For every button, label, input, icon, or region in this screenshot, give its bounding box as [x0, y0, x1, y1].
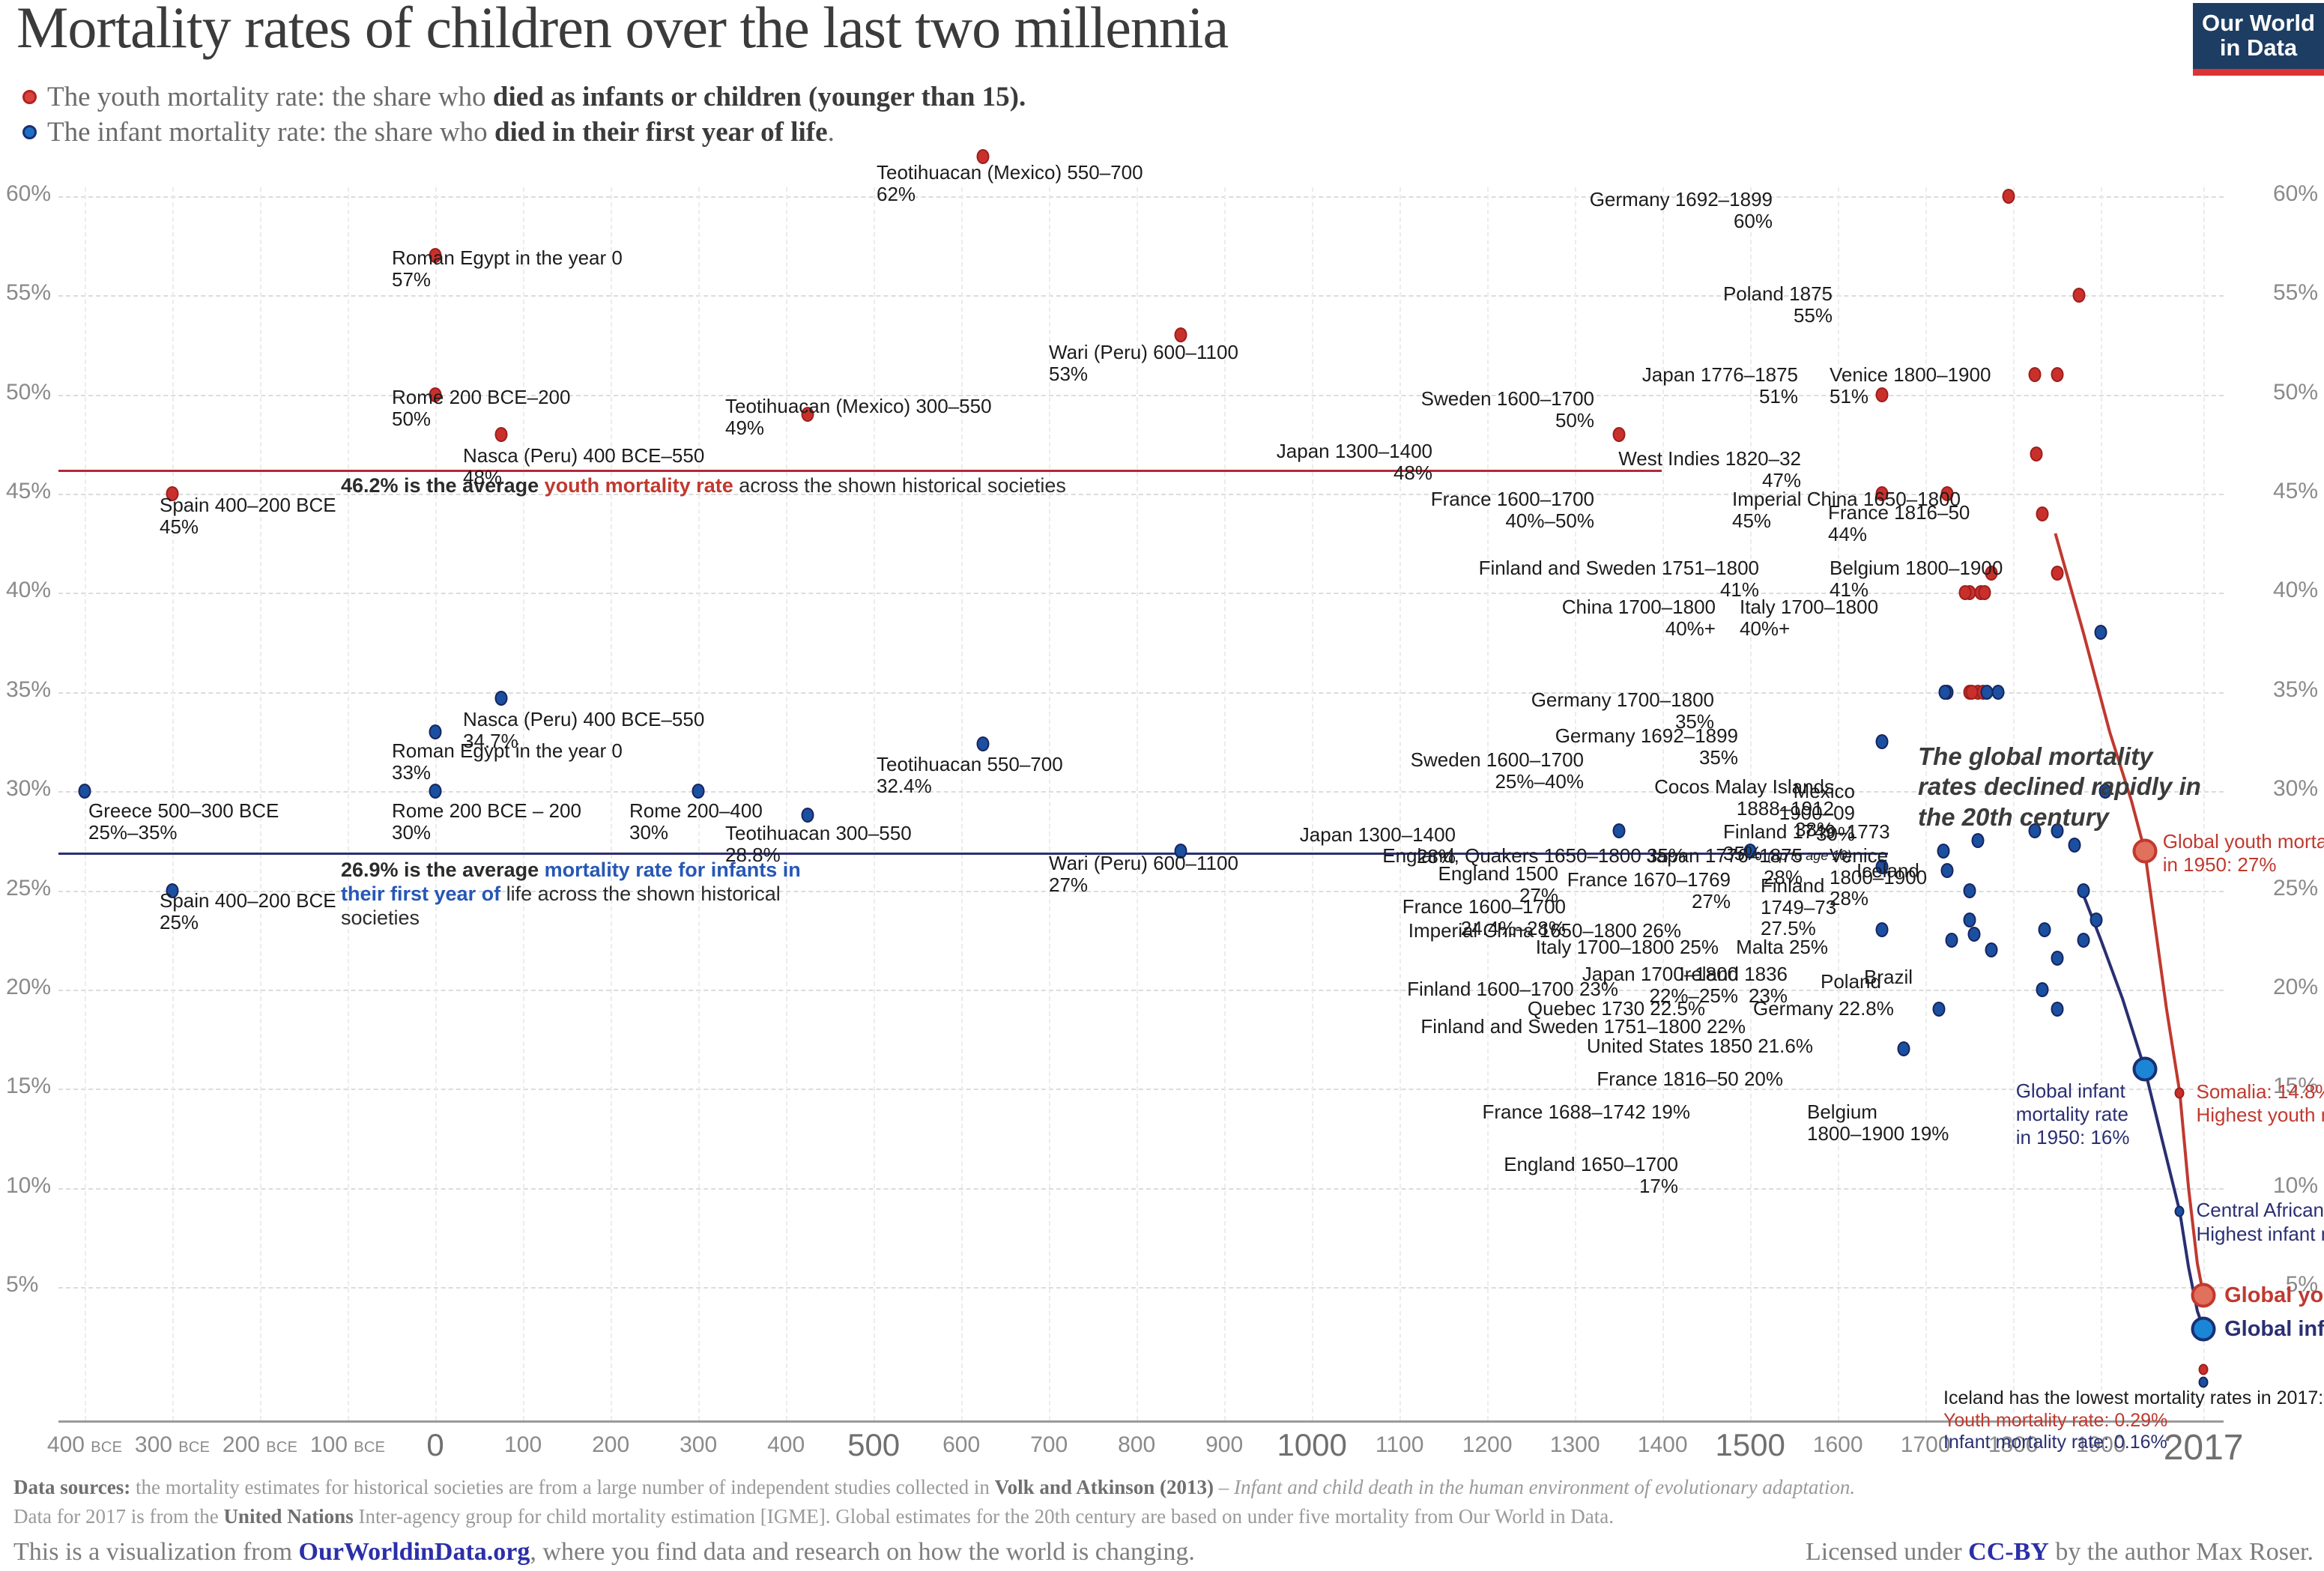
point-label: Japan 1776–187551% [1642, 364, 1798, 407]
gridline-v-1200 [1487, 187, 1489, 1420]
callout-global-youth-2017: Global youth mortality rate in 2017: 4.6… [2224, 1283, 2324, 1309]
callout-gi1950-line1: Global infant [2016, 1080, 2130, 1103]
point-label: Sweden 1600–170050% [1421, 388, 1594, 431]
data-point[interactable] [2051, 1002, 2063, 1017]
data-point[interactable] [692, 784, 705, 799]
iceland-youth-rate: Youth mortality rate: 0.29% [1943, 1410, 2323, 1432]
x-tick--300: 300 BCE [135, 1432, 210, 1458]
data-point[interactable] [1972, 833, 1985, 848]
footer-volk-atkinson: Volk and Atkinson (2013) [995, 1476, 1214, 1498]
point-label: Greece 500–300 BCE25%–35% [88, 800, 279, 843]
callout-global-infant-1950: Global infant mortality rate in 1950: 16… [2016, 1080, 2130, 1150]
data-point[interactable] [2030, 447, 2042, 461]
data-point[interactable] [79, 784, 91, 799]
footer-united-nations: United Nations [223, 1505, 353, 1528]
point-label: Teotihuacan (Mexico) 550–70062% [877, 162, 1143, 205]
callout-gy1950-line1: Global youth mortality rate [2163, 830, 2324, 853]
data-point[interactable] [2191, 1316, 2216, 1341]
gridline-h-30 [58, 791, 2224, 793]
point-label: Teotihuacan (Mexico) 300–55049% [725, 396, 992, 438]
point-label: Japan 1300–140048% [1277, 441, 1432, 483]
callout-global-youth-1950: Global youth mortality rate in 1950: 27% [2163, 830, 2324, 877]
y-tick-right-60: 60% [2273, 181, 2318, 207]
callout-car-line2: Highest infant mortality rate in 2017 [2196, 1223, 2324, 1246]
data-point[interactable] [1946, 933, 1958, 948]
point-label: Nasca (Peru) 400 BCE–55048% [463, 445, 704, 488]
x-tick-100: 100 [504, 1432, 542, 1458]
point-label: Belgium1800–1900 19% [1807, 1101, 1949, 1144]
point-label: Spain 400–200 BCE45% [160, 494, 336, 537]
point-label: Germany 1692–189960% [1590, 189, 1773, 231]
gridline-h-15 [58, 1089, 2224, 1090]
point-label: Nasca (Peru) 400 BCE–55034.7% [463, 709, 704, 751]
point-label: France 1816–5044% [1828, 502, 1970, 545]
gridline-h-35 [58, 692, 2224, 694]
x-tick-1000: 1000 [1277, 1427, 1346, 1463]
x-axis-line [58, 1420, 2224, 1423]
y-tick-right-30: 30% [2273, 776, 2318, 802]
x-tick-1300: 1300 [1550, 1432, 1600, 1458]
callout-global-infant-2017: Global infant mortality rate in 2017: 2.… [2224, 1316, 2324, 1343]
point-label: Wari (Peru) 600–110053% [1049, 342, 1238, 384]
x-tick-1500: 1500 [1715, 1427, 1785, 1463]
point-label: Spain 400–200 BCE25% [160, 890, 336, 933]
point-label: Poland [1821, 971, 1881, 993]
data-point[interactable] [2090, 912, 2103, 927]
average-infant-note: 26.9% is the average mortality rate for … [341, 859, 835, 930]
y-tick-left-45: 45% [6, 479, 51, 504]
point-label: Wari (Peru) 600–110027% [1049, 853, 1238, 895]
x-tick-300: 300 [680, 1432, 717, 1458]
x-tick-800: 800 [1118, 1432, 1155, 1458]
data-point[interactable] [2072, 288, 2085, 303]
iceland-annotation: Iceland has the lowest mortality rates i… [1943, 1387, 2323, 1454]
y-tick-left-40: 40% [6, 578, 51, 603]
x-tick-1200: 1200 [1462, 1432, 1513, 1458]
data-point[interactable] [2199, 1377, 2209, 1388]
point-label: Roman Egypt in the year 057% [392, 247, 623, 290]
x-tick-400: 400 [767, 1432, 805, 1458]
data-point[interactable] [1958, 585, 1971, 600]
footer-line3-a: This is a visualization from [13, 1538, 299, 1566]
data-point[interactable] [2077, 883, 2090, 898]
footer-sources-label: Data sources: [13, 1476, 130, 1498]
y-tick-right-35: 35% [2273, 677, 2318, 703]
iceland-infant-rate: Infant mortality rate: 0.16% [1943, 1432, 2323, 1454]
footer-line1-a: the mortality estimates for historical s… [130, 1476, 994, 1498]
data-point[interactable] [2199, 1363, 2209, 1375]
y-tick-right-55: 55% [2273, 280, 2318, 306]
point-label: France 1688–1742 19% [1482, 1101, 1690, 1123]
y-tick-right-20: 20% [2273, 975, 2318, 1000]
x-tick-900: 900 [1205, 1432, 1243, 1458]
gridline-v-1300 [1575, 187, 1576, 1420]
gridline-h-5 [58, 1287, 2224, 1289]
gridline-h-20 [58, 990, 2224, 991]
y-tick-right-40: 40% [2273, 578, 2318, 603]
data-point[interactable] [2036, 506, 2048, 521]
data-point[interactable] [2191, 1283, 2216, 1307]
data-point[interactable] [1875, 922, 1888, 937]
data-point[interactable] [1938, 685, 1951, 700]
gridline-v-600 [961, 187, 963, 1420]
data-point[interactable] [2036, 982, 2048, 997]
data-point[interactable] [429, 724, 442, 739]
point-label: Poland 187555% [1723, 283, 1833, 326]
callout-somalia-line1: Somalia: 14.8% [2196, 1080, 2324, 1104]
point-label: Germany 22.8% [1753, 998, 1894, 1020]
y-tick-right-50: 50% [2273, 380, 2318, 405]
footer-line-1: Data sources: the mortality estimates fo… [13, 1473, 2314, 1502]
point-label: Italy 1700–180040%+ [1740, 596, 1878, 639]
data-point[interactable] [1985, 942, 1997, 957]
data-point[interactable] [1875, 734, 1888, 749]
point-label: Teotihuacan 300–55028.8% [725, 823, 912, 865]
x-tick-1600: 1600 [1813, 1432, 1863, 1458]
point-label: China 1700–180040%+ [1562, 596, 1716, 639]
data-point[interactable] [1941, 863, 1954, 878]
gridline-v-1100 [1399, 187, 1401, 1420]
footer-line2-c: Inter-agency group for child mortality e… [354, 1505, 1614, 1528]
gridline-v-200 [611, 187, 612, 1420]
x-tick-600: 600 [942, 1432, 980, 1458]
avg-infant-lead: 26.9% is the average [341, 859, 545, 881]
point-label: England, Quakers 1650–1800 35% [1382, 845, 1686, 867]
footer-viz-credit: This is a visualization from OurWorldinD… [13, 1533, 1195, 1571]
data-point[interactable] [1978, 585, 1991, 600]
point-label: Italy 1700–1800 25% [1536, 936, 1719, 958]
iceland-line-1: Iceland has the lowest mortality rates i… [1943, 1387, 2323, 1410]
point-label: United States 1850 21.6% [1587, 1035, 1813, 1057]
point-label: Rome 200 BCE–20050% [392, 387, 570, 429]
footer-license-a: Licensed under [1806, 1538, 1968, 1566]
point-label: England 1650–170017% [1504, 1154, 1678, 1196]
data-point[interactable] [2051, 367, 2063, 382]
callout-central-african-republic: Central African Republic: 8.8% Highest i… [2196, 1199, 2324, 1245]
trend-line [2055, 533, 2203, 1295]
decline-annotation: The global mortality rates declined rapi… [1918, 742, 2218, 832]
y-tick-left-25: 25% [6, 876, 51, 901]
gridline-h-55 [58, 295, 2224, 297]
callout-car-line1: Central African Republic: 8.8% [2196, 1199, 2324, 1222]
point-label: Iceland [1857, 860, 1919, 882]
cc-by-link[interactable]: CC-BY [1968, 1538, 2049, 1566]
point-label: Venice 1800–190051% [1830, 364, 1991, 407]
y-tick-left-10: 10% [6, 1173, 51, 1199]
point-label: France 1816–50 20% [1597, 1068, 1783, 1090]
data-point[interactable] [2132, 838, 2157, 863]
footer-line1-italic: Infant and child death in the human envi… [1234, 1476, 1855, 1498]
footer-line1-c: – [1214, 1476, 1234, 1498]
avg-youth-rest: across the shown historical societies [733, 474, 1066, 497]
gridline-h-10 [58, 1188, 2224, 1190]
data-point[interactable] [802, 808, 814, 823]
point-label: Rome 200 BCE – 20030% [392, 800, 581, 843]
y-tick-left-15: 15% [6, 1074, 51, 1099]
data-point[interactable] [1963, 883, 1976, 898]
x-tick-700: 700 [1030, 1432, 1068, 1458]
data-point[interactable] [1932, 1002, 1945, 1017]
callout-gi1950-line3: in 1950: 16% [2016, 1126, 2130, 1149]
x-tick-1100: 1100 [1376, 1432, 1424, 1458]
footer-license-b: by the author Max Roser. [2049, 1538, 2314, 1566]
owid-link[interactable]: OurWorldinData.org [299, 1538, 530, 1566]
callout-somalia-line2: Highest youth mortality rate in 2017 [2196, 1104, 2324, 1127]
data-point[interactable] [2029, 367, 2042, 382]
chart-plot-area: 5%5%10%10%15%15%20%20%25%25%30%30%35%35%… [0, 0, 2324, 1549]
footer-line-3: This is a visualization from OurWorldinD… [13, 1533, 2314, 1571]
x-tick-500: 500 [847, 1427, 900, 1463]
footer: Data sources: the mortality estimates fo… [13, 1473, 2314, 1571]
data-point[interactable] [429, 784, 442, 799]
data-point[interactable] [2003, 189, 2015, 204]
data-point[interactable] [1992, 685, 2005, 700]
point-label: Finland1749–7327.5% [1761, 875, 1836, 939]
x-tick--100: 100 BCE [310, 1432, 385, 1458]
data-point[interactable] [2069, 838, 2081, 853]
gridline-v-1000 [1312, 187, 1313, 1420]
x-tick-0: 0 [426, 1427, 444, 1463]
gridline-v--100 [348, 187, 349, 1420]
y-tick-left-60: 60% [6, 181, 51, 207]
data-point[interactable] [2095, 625, 2107, 640]
y-tick-left-50: 50% [6, 380, 51, 405]
data-point[interactable] [1967, 927, 1980, 942]
data-point[interactable] [2175, 1087, 2185, 1098]
x-tick-200: 200 [592, 1432, 629, 1458]
y-tick-left-5: 5% [6, 1272, 38, 1298]
y-tick-right-45: 45% [2273, 479, 2318, 504]
y-tick-left-55: 55% [6, 280, 51, 306]
data-point[interactable] [2051, 566, 2063, 581]
callout-gy1950-line2: in 1950: 27% [2163, 853, 2324, 877]
callout-gi1950-line2: mortality rate [2016, 1103, 2130, 1126]
y-tick-left-20: 20% [6, 975, 51, 1000]
point-label: France 1600–170040%–50% [1431, 488, 1594, 531]
data-point[interactable] [2132, 1056, 2157, 1081]
gridline-v-500 [874, 187, 875, 1420]
y-tick-left-30: 30% [6, 776, 51, 802]
data-point[interactable] [1963, 912, 1976, 927]
data-point[interactable] [494, 427, 507, 442]
data-point[interactable] [1897, 1041, 1910, 1056]
y-tick-right-25: 25% [2273, 876, 2318, 901]
x-tick-1400: 1400 [1638, 1432, 1688, 1458]
y-tick-left-35: 35% [6, 677, 51, 703]
data-point[interactable] [494, 691, 507, 706]
x-tick--200: 200 BCE [223, 1432, 297, 1458]
gridline-v--400 [85, 187, 86, 1420]
data-point[interactable] [1937, 844, 1949, 859]
point-label: West Indies 1820–3247% [1618, 448, 1801, 491]
point-label: Mexico1900–0930% [1779, 781, 1855, 845]
footer-license: Licensed under CC-BY by the author Max R… [1806, 1533, 2314, 1571]
point-label: Malta 25% [1736, 936, 1828, 958]
data-point[interactable] [2051, 951, 2063, 966]
point-label: Finland and Sweden 1751–180041% [1479, 557, 1759, 600]
footer-line2-a: Data for 2017 is from the [13, 1505, 223, 1528]
x-tick--400: 400 BCE [47, 1432, 122, 1458]
data-point[interactable] [1612, 823, 1625, 838]
y-tick-right-10: 10% [2273, 1173, 2318, 1199]
data-point[interactable] [2077, 933, 2090, 948]
footer-line3-b: , where you find data and research on ho… [530, 1538, 1195, 1566]
footer-line-2: Data for 2017 is from the United Nations… [13, 1502, 2314, 1531]
data-point[interactable] [2039, 922, 2051, 937]
point-label: Sweden 1600–170025%–40% [1411, 749, 1584, 792]
point-label: Teotihuacan 550–70032.4% [877, 754, 1063, 796]
data-point[interactable] [2175, 1206, 2185, 1217]
data-point[interactable] [1612, 427, 1625, 442]
gridline-v-400 [786, 187, 787, 1420]
data-point[interactable] [977, 736, 990, 751]
callout-somalia: Somalia: 14.8% Highest youth mortality r… [2196, 1080, 2324, 1127]
